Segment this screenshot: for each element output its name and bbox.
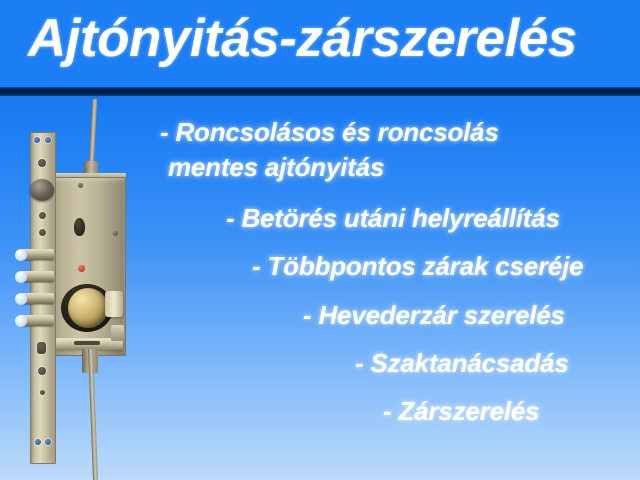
latch-slot (74, 341, 100, 345)
case-screw-icon (113, 231, 118, 236)
dead-bolt-tip-icon (15, 249, 27, 261)
service-line: - Többpontos zárak cseréje (252, 251, 583, 282)
service-line: - Hevederzár szerelés (303, 300, 565, 331)
faceplate-screw-icon (45, 137, 51, 143)
faceplate-hole-icon (39, 212, 46, 219)
service-line: mentes ajtónyitás (168, 152, 384, 183)
door-lock-photo (12, 99, 172, 480)
banner-image: Ajtónyitás-zárszerelés (0, 0, 640, 480)
dead-bolt-tip-icon (15, 293, 27, 305)
faceplate-screw-icon (34, 137, 40, 143)
faceplate-hole-icon (39, 229, 46, 236)
service-line: - Szaktanácsadás (355, 348, 569, 379)
faceplate-hole-icon (40, 390, 45, 395)
lock-case-tab-lower (111, 325, 124, 341)
case-screw-icon (78, 183, 83, 188)
page-title: Ajtónyitás-zárszerelés (28, 8, 577, 69)
keyhole-icon (74, 218, 85, 236)
service-line: - Roncsolásos és roncsolás (160, 117, 499, 148)
faceplate-hole-icon (38, 159, 46, 167)
dead-bolt-tip-icon (15, 315, 27, 327)
service-line: - Zárszerelés (383, 396, 539, 427)
brass-cylinder-icon (68, 288, 108, 328)
faceplate-slot-icon (37, 342, 46, 354)
faceplate-screw-icon (35, 439, 41, 445)
faceplate-hole-icon (38, 367, 46, 375)
cylinder-cam (105, 291, 123, 317)
faceplate-screw-icon (45, 439, 51, 445)
header-banner: Ajtónyitás-zárszerelés (0, 0, 640, 89)
dead-bolt-tip-icon (15, 271, 27, 283)
service-line: - Betörés utáni helyreállítás (226, 203, 560, 234)
indicator-dot-icon (78, 265, 85, 272)
faceplate-knob-icon (30, 179, 54, 201)
